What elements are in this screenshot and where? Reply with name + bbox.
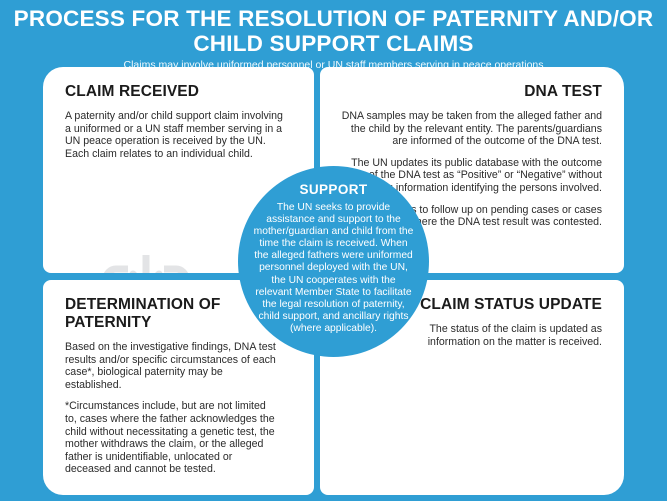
card-dna-test-title: DNA TEST xyxy=(340,83,602,101)
center-circle-body: The UN seeks to provide assistance and s… xyxy=(252,202,415,335)
card-determination-of-paternity-footnote: *Circumstances include, but are not limi… xyxy=(65,400,280,476)
header: PROCESS FOR THE RESOLUTION OF PATERNITY … xyxy=(0,0,667,65)
card-determination-of-paternity-paragraph-1: Based on the investigative findings, DNA… xyxy=(65,341,280,391)
page-title: PROCESS FOR THE RESOLUTION OF PATERNITY … xyxy=(0,0,667,56)
card-claim-received-title: CLAIM RECEIVED xyxy=(65,83,294,101)
card-claim-status-update-body: The status of the claim is updated as in… xyxy=(402,323,602,348)
center-circle-title: SUPPORT xyxy=(252,182,415,197)
envelope-download-icon xyxy=(100,255,192,273)
center-circle-support: SUPPORT The UN seeks to provide assistan… xyxy=(238,166,429,357)
infographic-root: PROCESS FOR THE RESOLUTION OF PATERNITY … xyxy=(0,0,667,501)
card-dna-test-paragraph-1: DNA samples may be taken from the allege… xyxy=(340,110,602,148)
card-claim-received-body: A paternity and/or child support claim i… xyxy=(65,110,285,160)
